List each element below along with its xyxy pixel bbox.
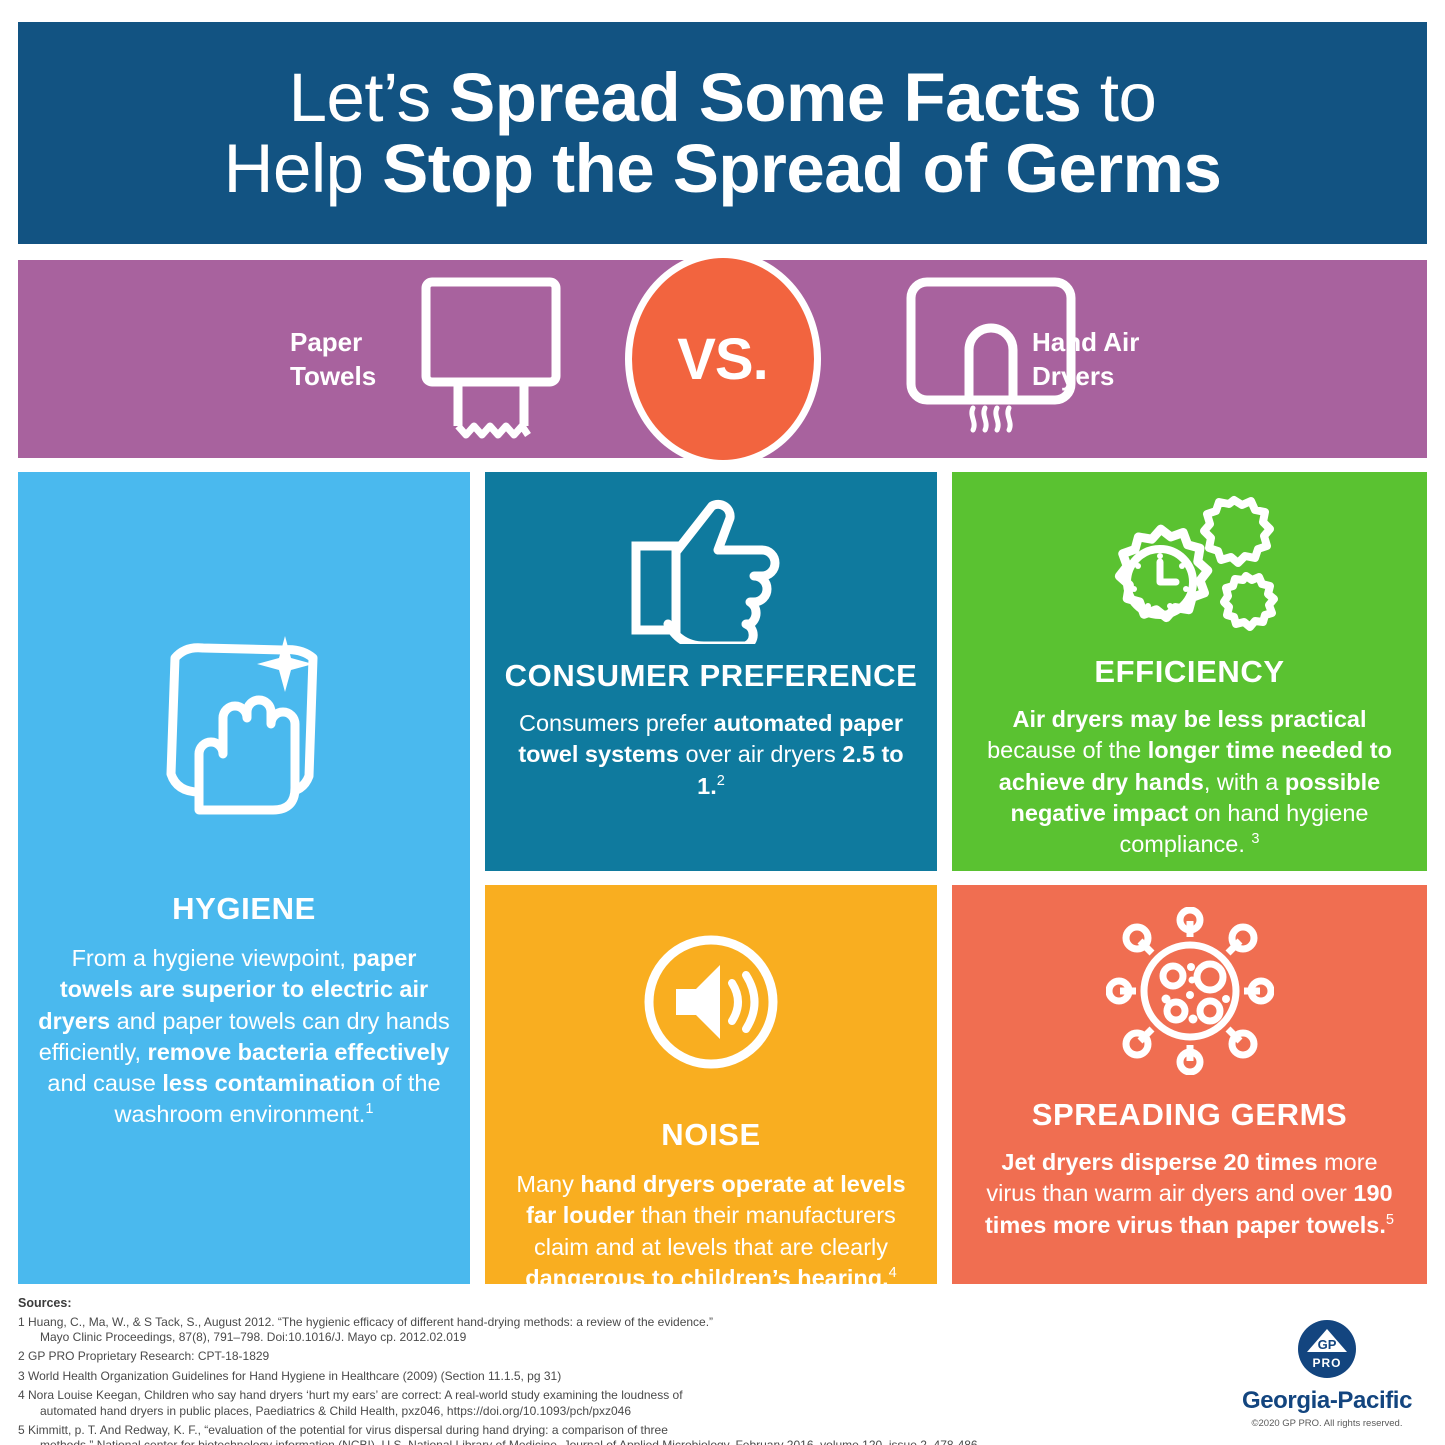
panel-body-spreading-germs: Jet dryers disperse 20 times more virus … — [952, 1147, 1427, 1241]
header-line-2-bold: Stop the Spread of Germs — [382, 130, 1221, 207]
source-continuation: automated hand dryers in public places, … — [29, 1404, 1427, 1419]
panel-body-consumer-preference: Consumers prefer automated paper towel s… — [485, 708, 937, 802]
svg-text:PRO: PRO — [1312, 1356, 1341, 1370]
sources-list: 1 Huang, C., Ma, W., & S Tack, S., Augus… — [18, 1315, 1427, 1445]
panel-body-noise: Many hand dryers operate at levels far l… — [485, 1169, 937, 1294]
panel-title-spreading-germs: SPREADING GERMS — [1032, 1097, 1348, 1133]
header-line-1-light: Let’s — [289, 59, 450, 136]
panel-title-noise: NOISE — [661, 1117, 760, 1153]
page-header: Let’s Spread Some Facts to Help Stop the… — [18, 22, 1427, 244]
header-line-2: Help Stop the Spread of Germs — [224, 133, 1222, 204]
paper-towel-icon — [416, 274, 566, 449]
source-item: 3 World Health Organization Guidelines f… — [18, 1369, 1427, 1384]
source-main: 5 Kimmitt, p. T. And Redway, K. F., “eva… — [18, 1423, 668, 1437]
panel-hygiene: HYGIENE From a hygiene viewpoint, paper … — [18, 472, 470, 1284]
panel-body-efficiency: Air dryers may be less practical because… — [952, 704, 1427, 860]
panel-efficiency: EFFICIENCY Air dryers may be less practi… — [952, 472, 1427, 871]
virus-icon — [1106, 907, 1274, 1075]
header-line-1: Let’s Spread Some Facts to — [289, 62, 1157, 133]
versus-banner: Paper Towels VS. — [18, 260, 1427, 458]
thumbs-up-icon — [624, 494, 799, 644]
source-item: 1 Huang, C., Ma, W., & S Tack, S., Augus… — [18, 1315, 1427, 1345]
panel-title-consumer-preference: CONSUMER PREFERENCE — [505, 658, 918, 694]
page-footer: Sources: 1 Huang, C., Ma, W., & S Tack, … — [18, 1296, 1427, 1436]
panel-title-hygiene: HYGIENE — [172, 891, 316, 927]
source-continuation: Mayo Clinic Proceedings, 87(8), 791–798.… — [29, 1330, 1427, 1345]
hand-with-towel-icon — [137, 610, 352, 825]
panel-body-hygiene: From a hygiene viewpoint, paper towels a… — [18, 943, 470, 1131]
header-line-1-tail: to — [1081, 59, 1156, 136]
panel-spreading-germs: SPREADING GERMS Jet dryers disperse 20 t… — [952, 885, 1427, 1284]
sources-heading: Sources: — [18, 1296, 1427, 1310]
header-line-1-bold: Spread Some Facts — [449, 59, 1081, 136]
brand-block: GP PRO Georgia-Pacific ©2020 GP PRO. All… — [1227, 1320, 1427, 1429]
versus-text: VS. — [677, 326, 768, 393]
paper-towels-label: Paper Towels — [290, 325, 430, 394]
header-line-2-light: Help — [224, 130, 383, 207]
facts-grid: HYGIENE From a hygiene viewpoint, paper … — [18, 472, 1427, 1284]
source-main: 2 GP PRO Proprietary Research: CPT-18-18… — [18, 1349, 269, 1363]
source-item: 5 Kimmitt, p. T. And Redway, K. F., “eva… — [18, 1423, 1427, 1445]
source-continuation: methods.” National center for biotechnol… — [29, 1438, 1427, 1445]
source-main: 1 Huang, C., Ma, W., & S Tack, S., Augus… — [18, 1315, 713, 1329]
panel-consumer-preference: CONSUMER PREFERENCE Consumers prefer aut… — [485, 472, 937, 871]
gp-pro-logo-icon: GP PRO — [1298, 1320, 1356, 1378]
source-item: 2 GP PRO Proprietary Research: CPT-18-18… — [18, 1349, 1427, 1364]
infographic-page: Let’s Spread Some Facts to Help Stop the… — [0, 0, 1445, 1445]
source-item: 4 Nora Louise Keegan, Children who say h… — [18, 1388, 1427, 1418]
brand-name: Georgia-Pacific — [1227, 1387, 1427, 1415]
panel-noise: NOISE Many hand dryers operate at levels… — [485, 885, 937, 1284]
panel-title-efficiency: EFFICIENCY — [1094, 654, 1284, 690]
svg-text:GP: GP — [1318, 1337, 1337, 1352]
source-main: 3 World Health Organization Guidelines f… — [18, 1369, 561, 1383]
speaker-volume-icon — [640, 931, 782, 1073]
versus-badge: VS. — [625, 251, 821, 467]
source-main: 4 Nora Louise Keegan, Children who say h… — [18, 1388, 683, 1402]
copyright-text: ©2020 GP PRO. All rights reserved. — [1227, 1418, 1427, 1429]
hand-air-dryers-label: Hand Air Dryers — [1032, 325, 1222, 394]
gears-clock-icon — [1090, 494, 1290, 646]
